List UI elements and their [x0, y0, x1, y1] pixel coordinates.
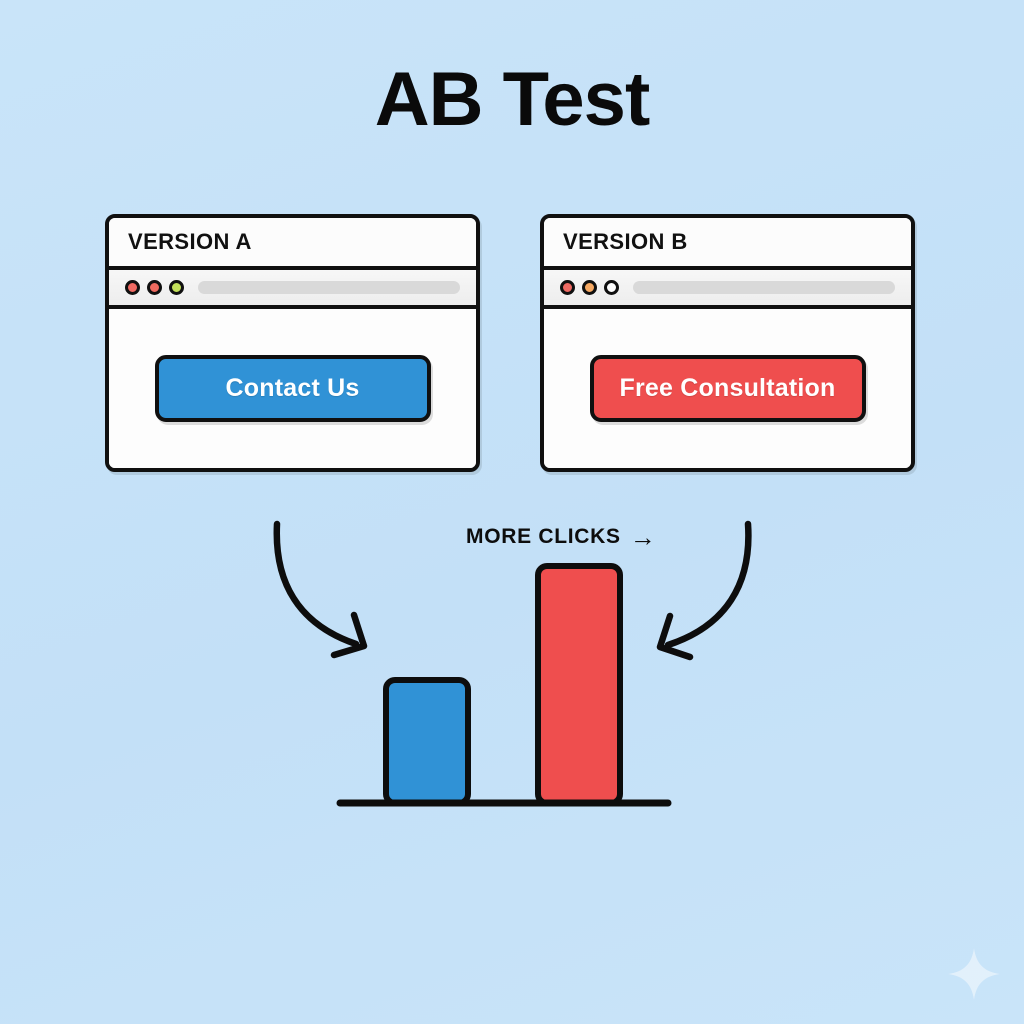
maximize-dot-icon[interactable] [604, 280, 619, 295]
annotation-arrows [0, 0, 1024, 1024]
browser-window-version-a: VERSION A Contact Us [105, 214, 480, 472]
arrow-to-version-a-bar [277, 524, 364, 655]
traffic-light-dots-a [125, 280, 184, 295]
close-dot-icon[interactable] [125, 280, 140, 295]
arrow-to-version-b-bar [660, 524, 748, 657]
maximize-dot-icon[interactable] [169, 280, 184, 295]
window-title-version-b: VERSION B [544, 218, 911, 270]
bar-version-b [538, 566, 620, 803]
cta-button-contact-us[interactable]: Contact Us [155, 355, 431, 422]
minimize-dot-icon[interactable] [147, 280, 162, 295]
browser-toolbar-a [109, 270, 476, 309]
close-dot-icon[interactable] [560, 280, 575, 295]
ab-test-infographic: AB Test VERSION A Contact Us VERSION B [0, 0, 1024, 1024]
browser-window-version-b: VERSION B Free Consultation [540, 214, 915, 472]
sparkle-icon [946, 946, 1002, 1002]
page-title: AB Test [0, 62, 1024, 138]
browser-toolbar-b [544, 270, 911, 309]
minimize-dot-icon[interactable] [582, 280, 597, 295]
more-clicks-annotation: MORE CLICKS → [466, 524, 656, 550]
arrow-right-icon: → [630, 524, 657, 550]
window-body-a: Contact Us [109, 309, 476, 468]
bar-version-a [386, 680, 468, 803]
clicks-bar-chart [0, 0, 1024, 1024]
cta-button-free-consultation[interactable]: Free Consultation [590, 355, 866, 422]
url-input-b[interactable] [633, 281, 895, 294]
window-body-b: Free Consultation [544, 309, 911, 468]
more-clicks-label: MORE CLICKS [466, 525, 621, 549]
url-input-a[interactable] [198, 281, 460, 294]
traffic-light-dots-b [560, 280, 619, 295]
window-title-version-a: VERSION A [109, 218, 476, 270]
